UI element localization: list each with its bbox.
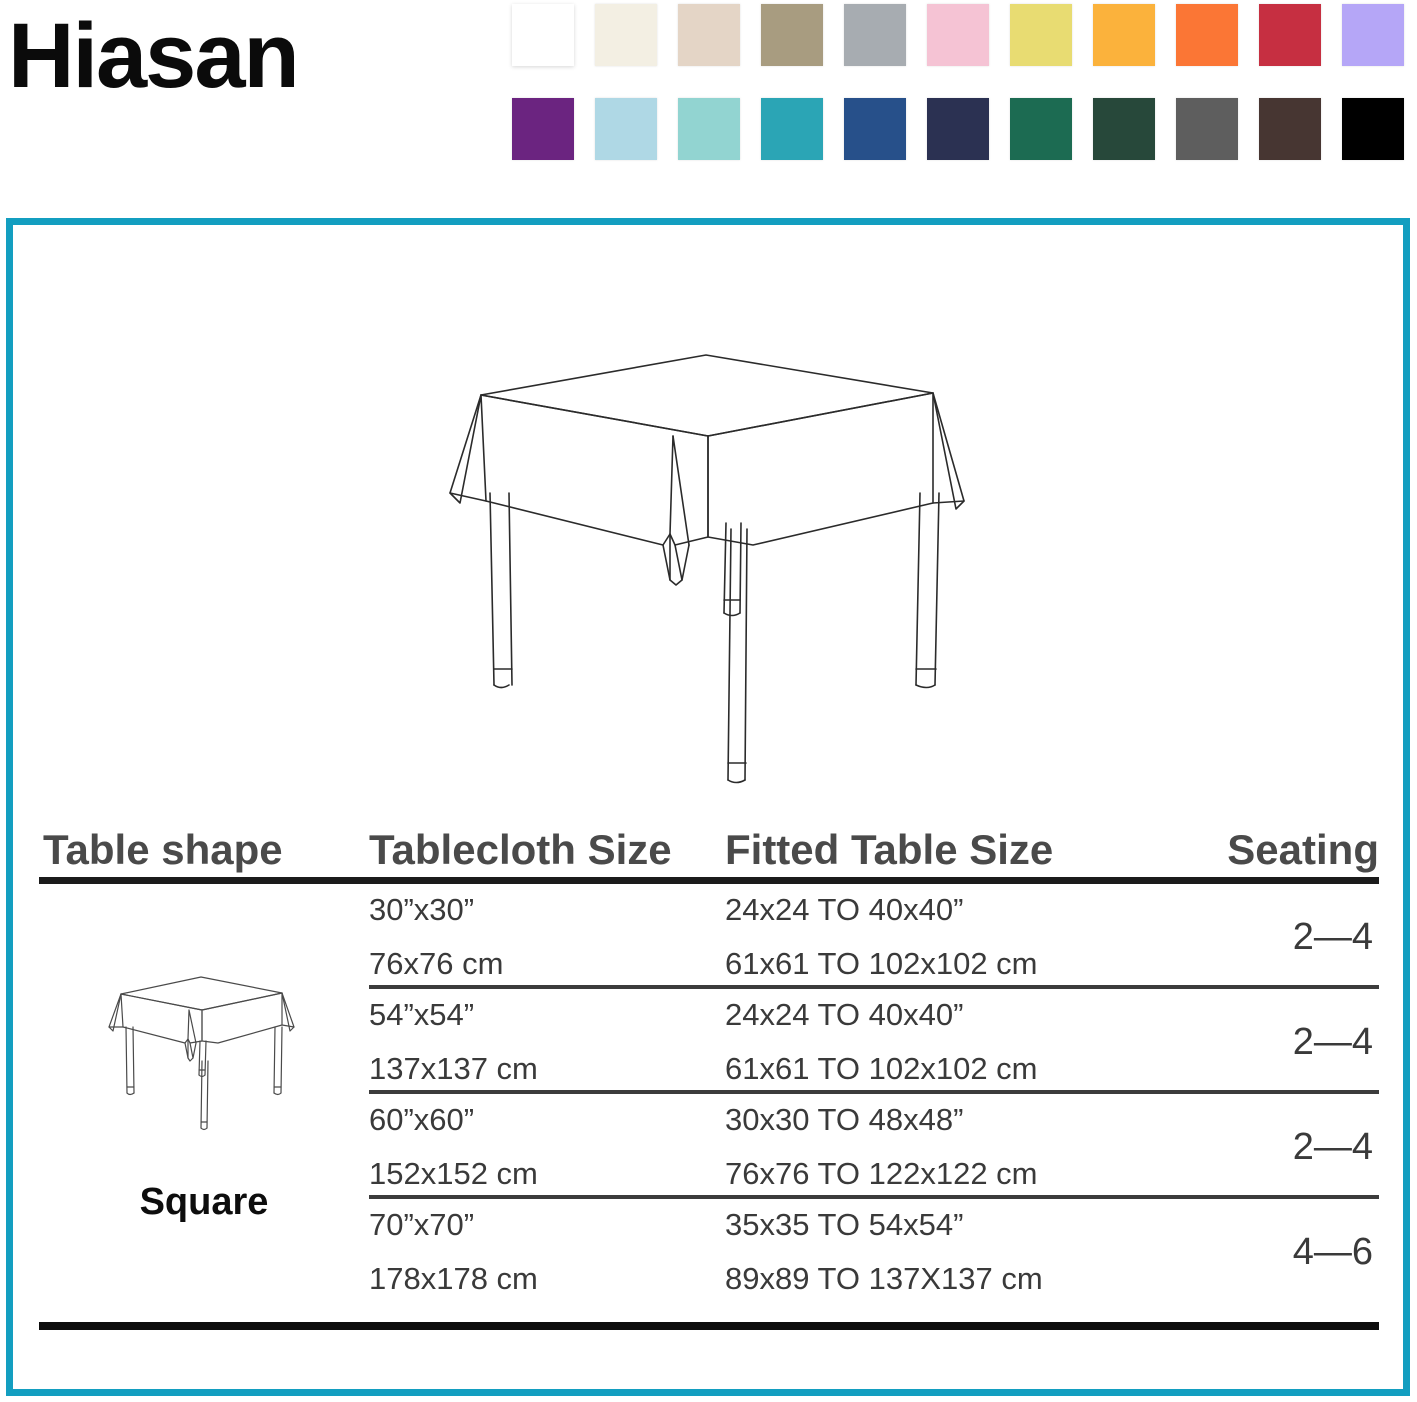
size-chart-image: Hiasan [0,0,1417,1402]
table-row: 70”x70”178x178 cm35x35 TO 54x54”89x89 TO… [39,1199,1379,1304]
tablecloth-size-inches: 30”x30” [369,883,725,936]
square-table-illustration [408,333,1008,803]
color-swatch-yellow[interactable] [1010,4,1072,66]
cell-shape-spacer [39,989,369,1094]
cell-seating: 4—6 [1223,1199,1379,1304]
color-swatch-orange[interactable] [1176,4,1238,66]
size-table: Table shape Tablecloth Size Fitted Table… [39,805,1379,1330]
color-swatch-green[interactable] [1010,98,1072,160]
tablecloth-size-inches: 54”x54” [369,988,725,1041]
seating-value: 2—4 [1293,1023,1379,1061]
cell-tablecloth-size: 60”x60”152x152 cm [369,1094,725,1199]
cell-tablecloth-size: 30”x30”76x76 cm [369,884,725,989]
color-swatch-row-2 [512,98,1412,160]
color-swatch-dark-grey[interactable] [1176,98,1238,160]
color-swatch-dark-green[interactable] [1093,98,1155,160]
column-header-seating: Seating [1223,829,1379,871]
cell-shape-spacer [39,884,369,989]
fitted-size-cm: 76x76 TO 122x122 cm [725,1147,1223,1200]
tablecloth-size-cm: 178x178 cm [369,1252,725,1305]
cell-fitted-table-size: 24x24 TO 40x40”61x61 TO 102x102 cm [725,884,1223,989]
cell-fitted-table-size: 24x24 TO 40x40”61x61 TO 102x102 cm [725,989,1223,1094]
column-header-table-shape: Table shape [39,829,369,871]
seating-value: 2—4 [1293,918,1379,956]
color-swatch-lavender[interactable] [1342,4,1404,66]
color-swatch-grey[interactable] [844,4,906,66]
color-swatch-grid [512,4,1412,160]
fitted-size-inches: 30x30 TO 48x48” [725,1093,1223,1146]
color-swatch-ivory[interactable] [595,4,657,66]
fitted-size-inches: 35x35 TO 54x54” [725,1198,1223,1251]
fitted-size-cm: 61x61 TO 102x102 cm [725,937,1223,990]
brand-logo: Hiasan [8,10,298,102]
tablecloth-size-inches: 70”x70” [369,1198,725,1251]
color-swatch-purple[interactable] [512,98,574,160]
color-swatch-pink[interactable] [927,4,989,66]
color-swatch-dark-brown[interactable] [1259,98,1321,160]
fitted-size-inches: 24x24 TO 40x40” [725,988,1223,1041]
cell-seating: 2—4 [1223,1094,1379,1199]
seating-value: 2—4 [1293,1128,1379,1166]
color-swatch-taupe[interactable] [761,4,823,66]
table-bottom-divider [39,1322,1379,1330]
column-header-tablecloth-size: Tablecloth Size [369,829,725,871]
fitted-size-cm: 61x61 TO 102x102 cm [725,1042,1223,1095]
tablecloth-size-cm: 137x137 cm [369,1042,725,1095]
color-swatch-blue[interactable] [844,98,906,160]
size-chart-panel: Table shape Tablecloth Size Fitted Table… [6,218,1410,1396]
tablecloth-size-cm: 76x76 cm [369,937,725,990]
cell-shape-spacer [39,1199,369,1304]
tablecloth-size-cm: 152x152 cm [369,1147,725,1200]
color-swatch-aqua[interactable] [678,98,740,160]
table-row: 30”x30”76x76 cm24x24 TO 40x40”61x61 TO 1… [39,884,1379,989]
color-swatch-row-1 [512,4,1412,66]
color-swatch-light-blue[interactable] [595,98,657,160]
fitted-size-cm: 89x89 TO 137X137 cm [725,1252,1223,1305]
color-swatch-gold[interactable] [1093,4,1155,66]
table-body: Square 30”x30”76x76 cm24x24 TO 40x40”61x… [39,884,1379,1304]
color-swatch-navy[interactable] [927,98,989,160]
fitted-size-inches: 24x24 TO 40x40” [725,883,1223,936]
tablecloth-size-inches: 60”x60” [369,1093,725,1146]
table-row: 60”x60”152x152 cm30x30 TO 48x48”76x76 TO… [39,1094,1379,1199]
cell-tablecloth-size: 70”x70”178x178 cm [369,1199,725,1304]
cell-fitted-table-size: 30x30 TO 48x48”76x76 TO 122x122 cm [725,1094,1223,1199]
color-swatch-beige[interactable] [678,4,740,66]
cell-tablecloth-size: 54”x54”137x137 cm [369,989,725,1094]
color-swatch-teal[interactable] [761,98,823,160]
color-swatch-red[interactable] [1259,4,1321,66]
seating-value: 4—6 [1293,1233,1379,1271]
cell-shape-spacer [39,1094,369,1199]
column-header-fitted-table-size: Fitted Table Size [725,829,1223,871]
cell-seating: 2—4 [1223,989,1379,1094]
cell-seating: 2—4 [1223,884,1379,989]
color-swatch-black[interactable] [1342,98,1404,160]
color-swatch-white[interactable] [512,4,574,66]
table-header-row: Table shape Tablecloth Size Fitted Table… [39,805,1379,871]
table-row: 54”x54”137x137 cm24x24 TO 40x40”61x61 TO… [39,989,1379,1094]
cell-fitted-table-size: 35x35 TO 54x54”89x89 TO 137X137 cm [725,1199,1223,1304]
